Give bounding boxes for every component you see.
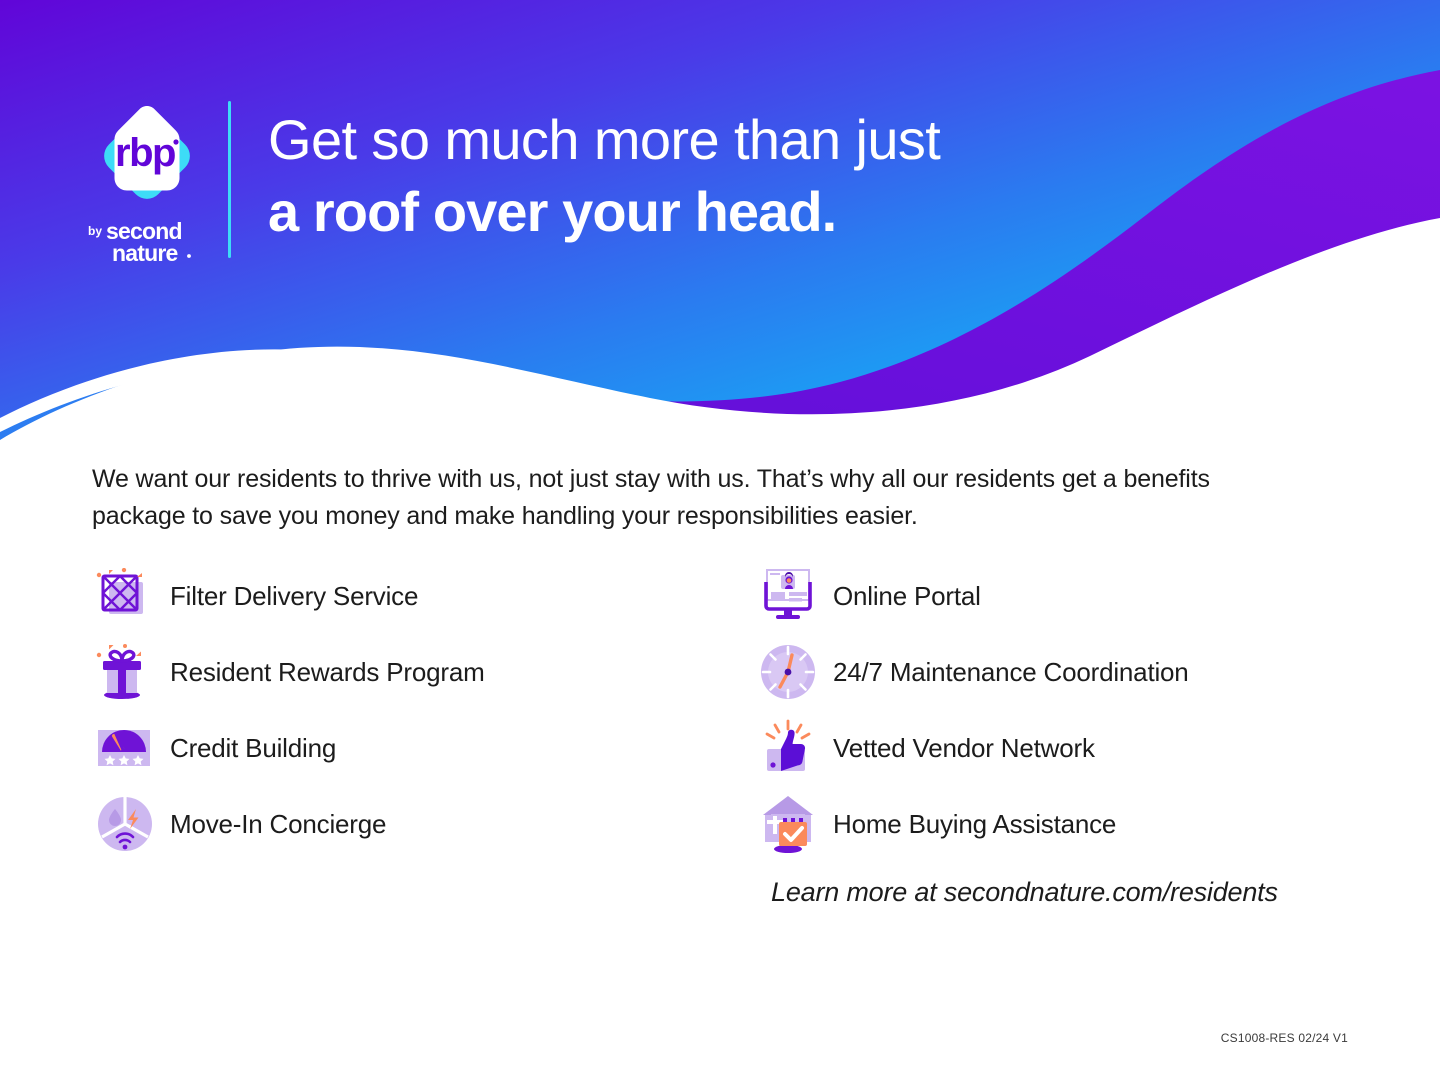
logo-wordmark: rbp [115, 131, 175, 175]
benefit-item-resident-rewards-program: Resident Rewards Program [92, 634, 712, 710]
benefit-item-credit-building: Credit Building [92, 710, 712, 786]
rbp-logo: rbp by second nature [82, 100, 212, 262]
benefit-item-online-portal: Online Portal [755, 558, 1375, 634]
logo-registered-mark [173, 139, 178, 144]
benefit-item-maintenance-coordination: 24/7 Maintenance Coordination [755, 634, 1375, 710]
benefits-column-left: Filter Delivery Service [92, 558, 712, 862]
benefit-label: Move-In Concierge [170, 809, 386, 840]
benefit-label: Filter Delivery Service [170, 581, 418, 612]
byline-registered-mark [187, 254, 191, 258]
byline-nature: nature [112, 240, 178, 266]
thumbs-up-icon [755, 717, 821, 779]
benefit-label: Credit Building [170, 733, 336, 764]
benefit-label: Home Buying Assistance [833, 809, 1116, 840]
page-title: Get so much more than just a roof over y… [268, 104, 1168, 248]
intro-paragraph: We want our residents to thrive with us,… [92, 461, 1307, 535]
headline-line-1: Get so much more than just [268, 104, 1168, 176]
air-filter-icon [92, 565, 158, 627]
poster-page: rbp by second nature Get so much more th… [0, 0, 1440, 1080]
benefit-label: Online Portal [833, 581, 981, 612]
logo-byline: by second nature [82, 216, 212, 268]
gift-box-icon [92, 641, 158, 703]
benefit-item-home-buying-assistance: Home Buying Assistance [755, 786, 1375, 862]
desktop-monitor-icon [755, 565, 821, 627]
benefit-label: Resident Rewards Program [170, 657, 485, 688]
benefit-item-filter-delivery-service: Filter Delivery Service [92, 558, 712, 634]
document-code: CS1008-RES 02/24 V1 [1221, 1031, 1348, 1045]
byline-by: by [88, 224, 102, 238]
benefit-label: 24/7 Maintenance Coordination [833, 657, 1189, 688]
benefit-label: Vetted Vendor Network [833, 733, 1095, 764]
headline-line-2: a roof over your head. [268, 176, 1168, 248]
benefit-item-move-in-concierge: Move-In Concierge [92, 786, 712, 862]
benefit-item-vetted-vendor-network: Vetted Vendor Network [755, 710, 1375, 786]
rbp-logo-mark: rbp [92, 100, 202, 212]
utilities-circle-icon [92, 793, 158, 855]
clock-icon [755, 641, 821, 703]
credit-gauge-icon [92, 717, 158, 779]
header-divider [228, 101, 231, 258]
learn-more-text: Learn more at secondnature.com/residents [771, 877, 1278, 908]
house-check-icon [755, 793, 821, 855]
benefits-column-right: Online Portal [755, 558, 1375, 862]
